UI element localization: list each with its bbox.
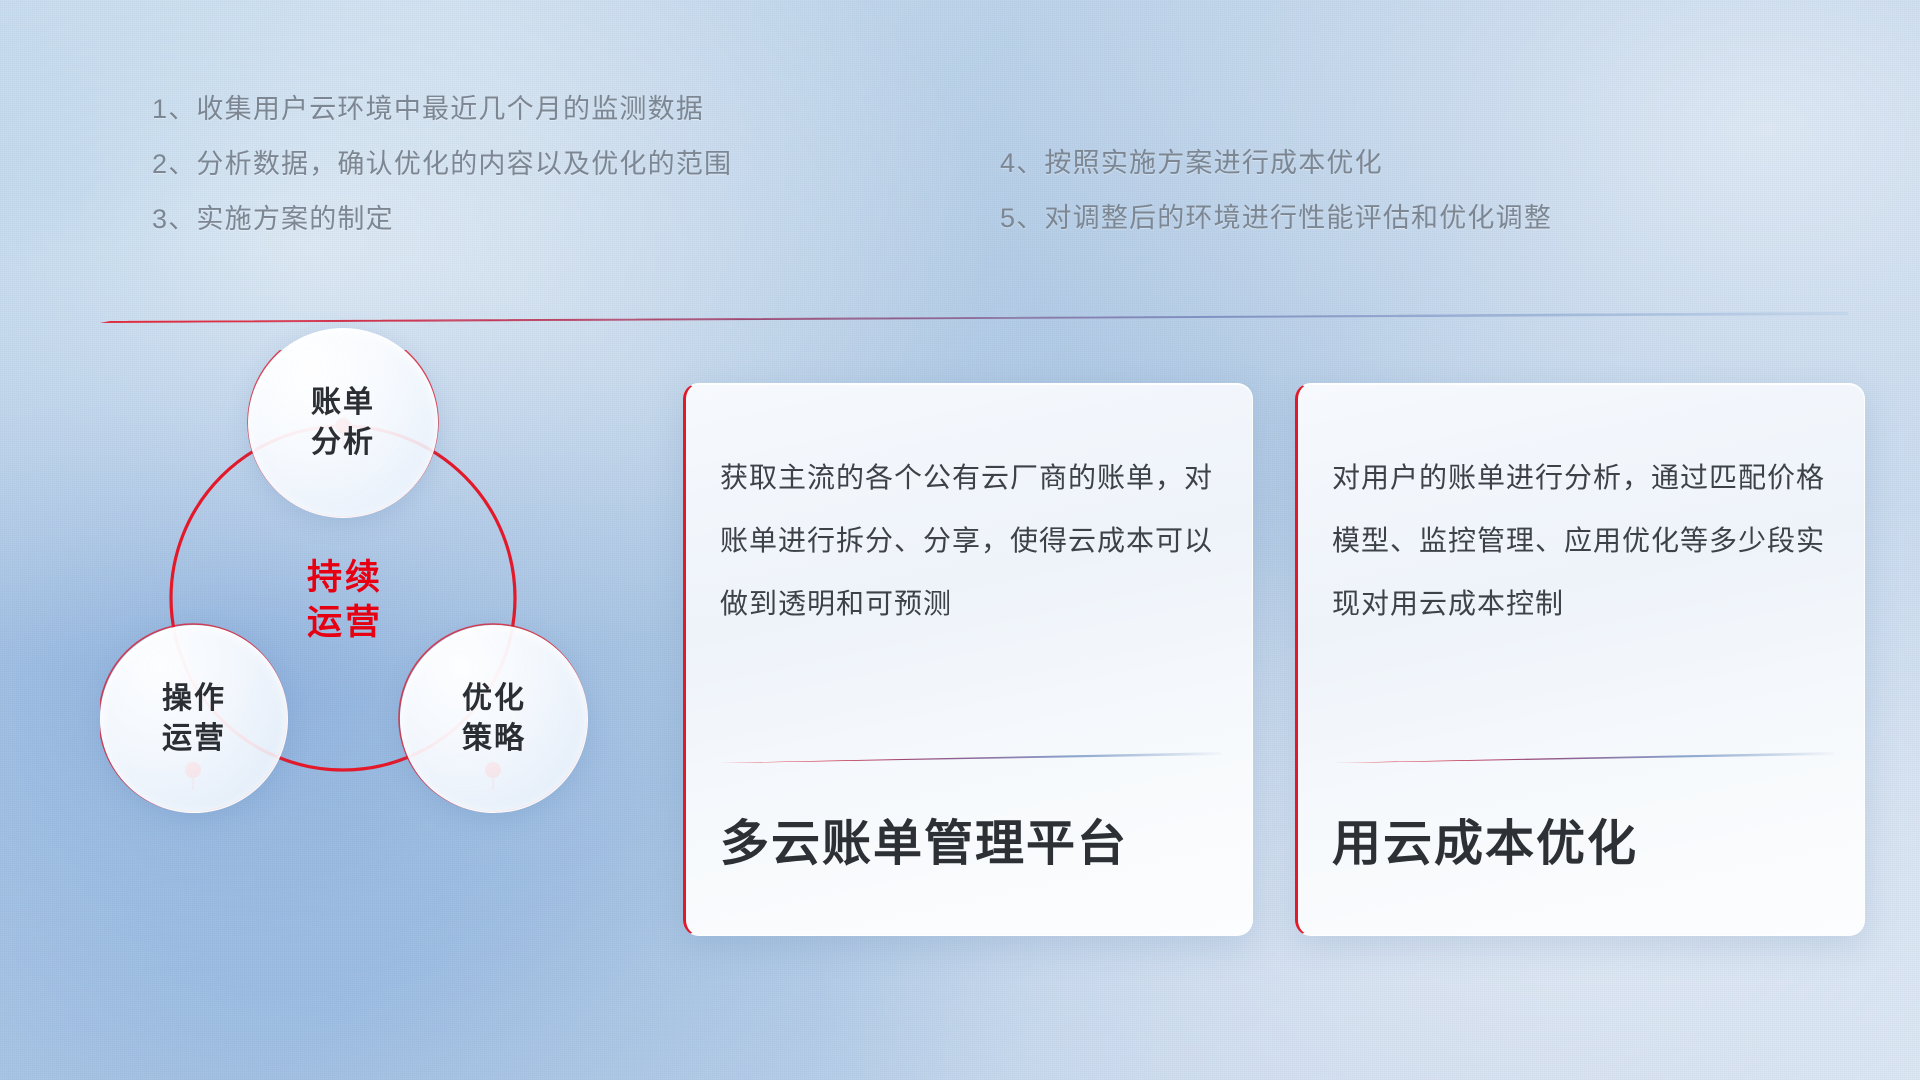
card-multicloud-billing-platform[interactable]: 获取主流的各个公有云厂商的账单，对账单进行拆分、分享，使得云成本可以做到透明和可… — [683, 383, 1253, 936]
card-cloud-cost-optimization[interactable]: 对用户的账单进行分析，通过匹配价格模型、监控管理、应用优化等多少段实现对用云成本… — [1295, 383, 1865, 936]
venn-bubble-label: 账单 分析 — [311, 383, 375, 462]
venn-center-label: 持续 运营 — [255, 540, 435, 660]
step-item: 4、按照实施方案进行成本优化 — [1000, 150, 1552, 177]
card-title: 用云成本优化 — [1332, 804, 1834, 875]
step-item: 3、实施方案的制定 — [152, 206, 732, 233]
steps-column-right: 4、按照实施方案进行成本优化 5、对调整后的环境进行性能评估和优化调整 — [1000, 150, 1552, 260]
card-divider — [720, 752, 1218, 763]
step-item: 2、分析数据，确认优化的内容以及优化的范围 — [152, 151, 732, 178]
venn-bubble-label: 优化 策略 — [462, 679, 526, 758]
card-description: 获取主流的各个公有云厂商的账单，对账单进行拆分、分享，使得云成本可以做到透明和可… — [720, 446, 1222, 635]
venn-diagram: 账单 分析 操作 运营 优化 策略 持续 运营 — [100, 350, 630, 950]
venn-bubble-billing-analysis[interactable]: 账单 分析 — [248, 328, 438, 518]
venn-bubble-label: 操作 运营 — [162, 679, 226, 758]
card-divider — [1332, 752, 1830, 763]
step-item: 1、收集用户云环境中最近几个月的监测数据 — [152, 96, 732, 123]
steps-column-left: 1、收集用户云环境中最近几个月的监测数据 2、分析数据，确认优化的内容以及优化的… — [152, 96, 732, 261]
step-item: 5、对调整后的环境进行性能评估和优化调整 — [1000, 205, 1552, 232]
card-title: 多云账单管理平台 — [720, 804, 1222, 875]
section-divider — [100, 312, 1848, 323]
card-description: 对用户的账单进行分析，通过匹配价格模型、监控管理、应用优化等多少段实现对用云成本… — [1332, 446, 1834, 635]
